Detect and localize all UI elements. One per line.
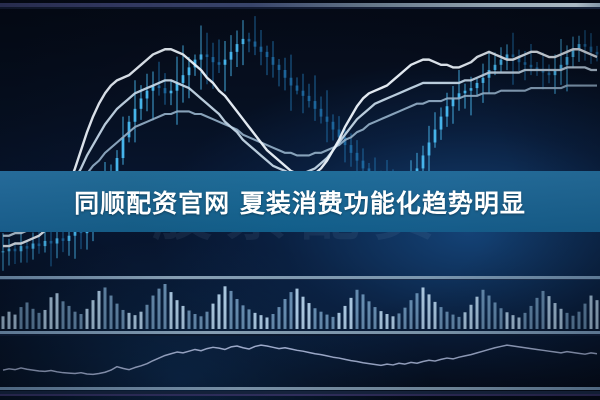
volume-panel-bottom-separator-shadow	[0, 334, 600, 336]
headline-banner: 同顺配资官网 夏装消费功能化趋势明显	[0, 171, 600, 232]
headline-text: 同顺配资官网 夏装消费功能化趋势明显	[74, 184, 526, 220]
indicator-panel-bottom-separator	[0, 387, 600, 390]
chart-banner-image: 股票配资	[0, 0, 600, 400]
bottom-accent-rule	[0, 394, 600, 396]
top-accent-rule-shadow	[0, 7, 600, 9]
volume-panel-top-separator-shadow	[0, 279, 600, 280]
